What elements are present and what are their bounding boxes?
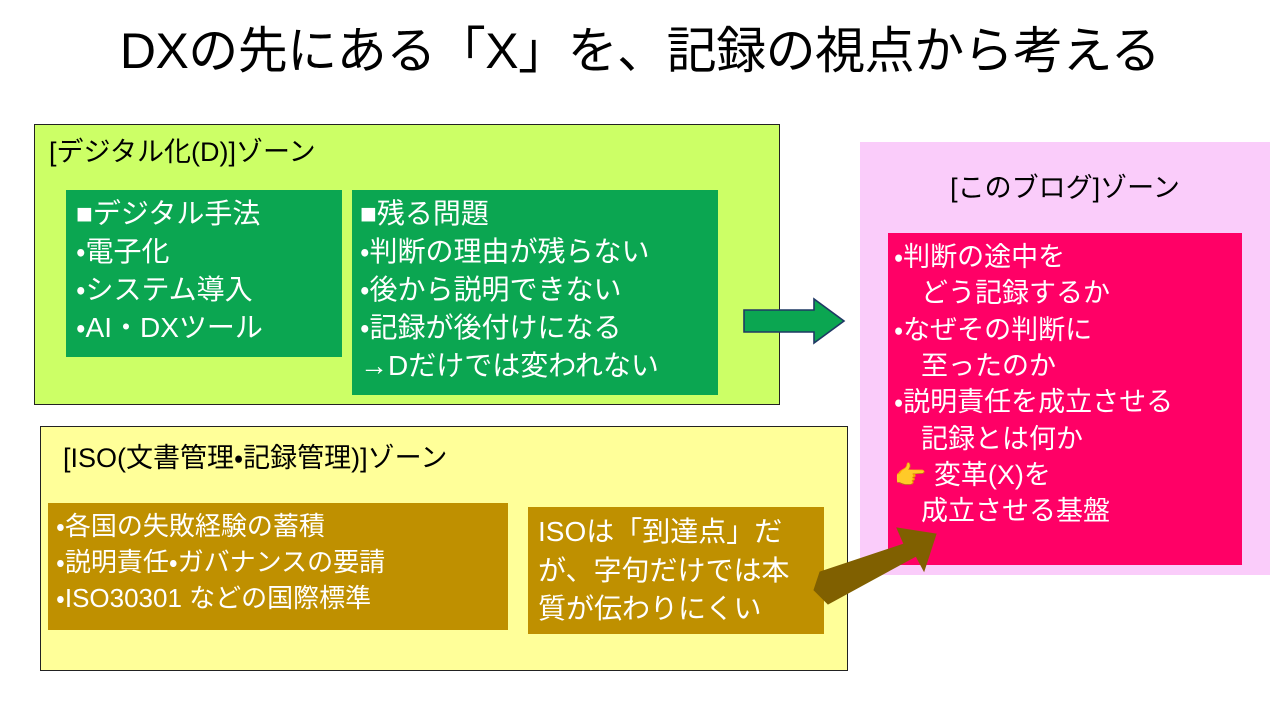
box-iso-points: ・各国の失敗経験の蓄積 ・説明責任・ガバナンスの要請 ・ISO30301 などの… [48, 503, 508, 630]
box-blog-points: ・判断の途中を どう記録するか ・なぜその判断に 至ったのか ・説明責任を成立さ… [888, 233, 1242, 565]
box-digital-methods: ■デジタル手法 ・電子化 ・システム導入 ・AI・DXツール [66, 190, 342, 357]
slide-canvas: DXの先にある「X」を、記録の視点から考える [デジタル化(D)]ゾーン ■デジ… [0, 0, 1280, 720]
box-iso-caveat: ISOは「到達点」だ が、字句だけでは本 質が伝わりにくい [528, 507, 824, 634]
blog-points-text-bottom: 変革(X)を 成立させる基盤 [894, 460, 1110, 526]
zone-blog-title: [このブログ]ゾーン [860, 174, 1270, 204]
arrow-digital-to-blog-icon [742, 296, 846, 346]
blog-points-text-top: ・判断の途中を どう記録するか ・なぜその判断に 至ったのか ・説明責任を成立さ… [894, 242, 1173, 454]
zone-digital-title: [デジタル化(D)]ゾーン [49, 138, 316, 168]
pointing-finger-icon: 👉 [894, 460, 926, 490]
arrow-iso-to-blog-icon [812, 520, 942, 612]
page-title: DXの先にある「X」を、記録の視点から考える [0, 24, 1280, 79]
box-remaining-issues: ■残る問題 ・判断の理由が残らない ・後から説明できない ・記録が後付けになる … [352, 190, 718, 395]
zone-iso-title: [ISO(文書管理・記録管理)]ゾーン [63, 444, 447, 474]
